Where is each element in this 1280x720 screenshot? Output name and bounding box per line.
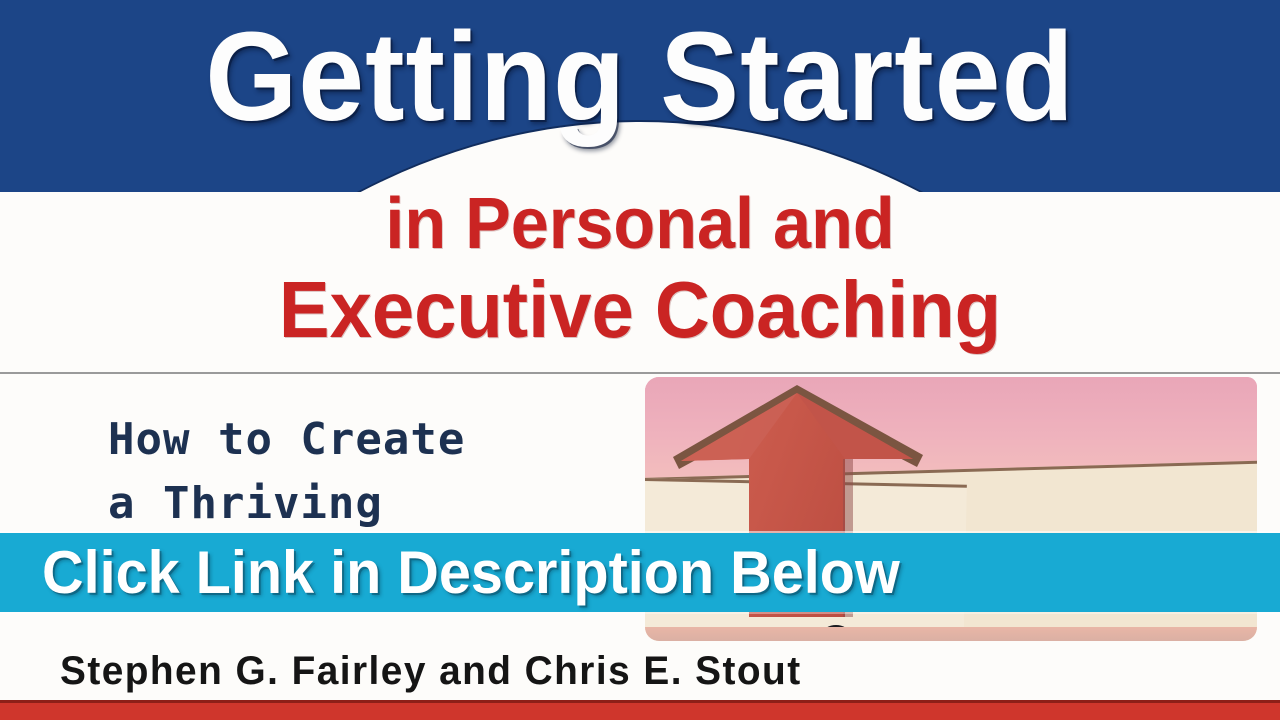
- subtitle-line-2: Executive Coaching: [32, 266, 1248, 354]
- tagline-block: How to Create a Thriving: [108, 408, 628, 536]
- subtitle-block: in Personal and Executive Coaching: [0, 182, 1280, 354]
- tagline-line-1: How to Create: [108, 408, 628, 472]
- author-line: Stephen G. Fairley and Chris E. Stout: [60, 648, 802, 694]
- page-title: Getting Started: [38, 6, 1241, 148]
- tagline-line-2: a Thriving: [108, 472, 628, 536]
- footer-red-band: [0, 703, 1280, 720]
- horizontal-divider: [0, 372, 1280, 374]
- overlay-banner[interactable]: Click Link in Description Below: [0, 533, 1280, 612]
- book-cover: Getting Started in Personal and Executiv…: [0, 0, 1280, 720]
- overlay-banner-text: Click Link in Description Below: [42, 536, 900, 610]
- illustration-bottom-strip: [645, 627, 1257, 641]
- subtitle-line-1: in Personal and: [32, 182, 1248, 266]
